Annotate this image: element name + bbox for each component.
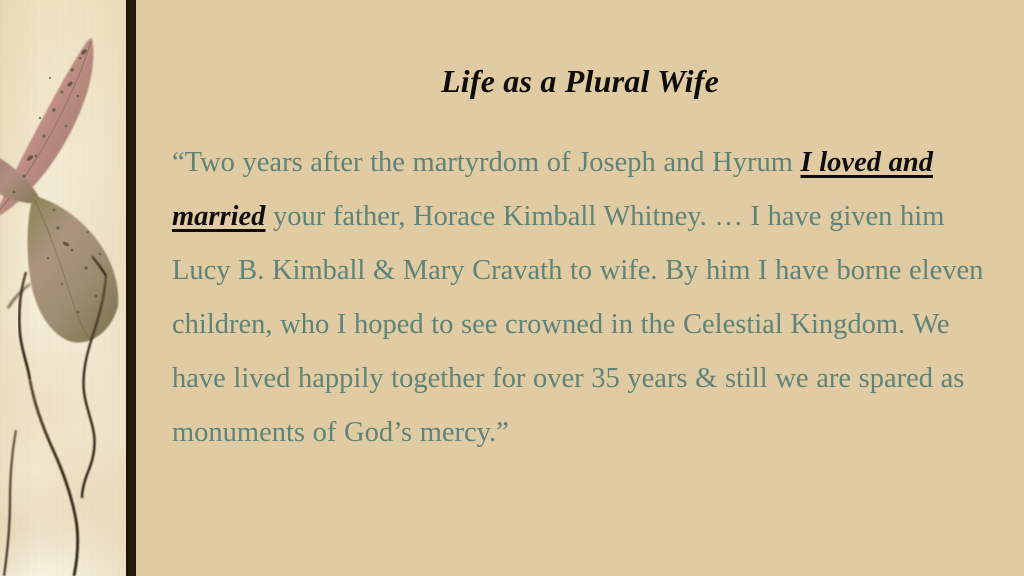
quote-body: “Two years after the martyrdom of Joseph…: [172, 136, 996, 460]
slide-content: Life as a Plural Wife “Two years after t…: [136, 0, 1024, 576]
leaf-illustration-icon: [0, 0, 126, 576]
decorative-botanical-panel: [0, 0, 126, 576]
slide-title: Life as a Plural Wife: [136, 64, 1024, 99]
quote-part-1: “Two years after the martyrdom of Joseph…: [172, 147, 801, 178]
quote-part-2: your father, Horace Kimball Whitney. … I…: [172, 201, 983, 448]
slide: Life as a Plural Wife “Two years after t…: [0, 0, 1024, 576]
vertical-border-strip: [126, 0, 136, 576]
